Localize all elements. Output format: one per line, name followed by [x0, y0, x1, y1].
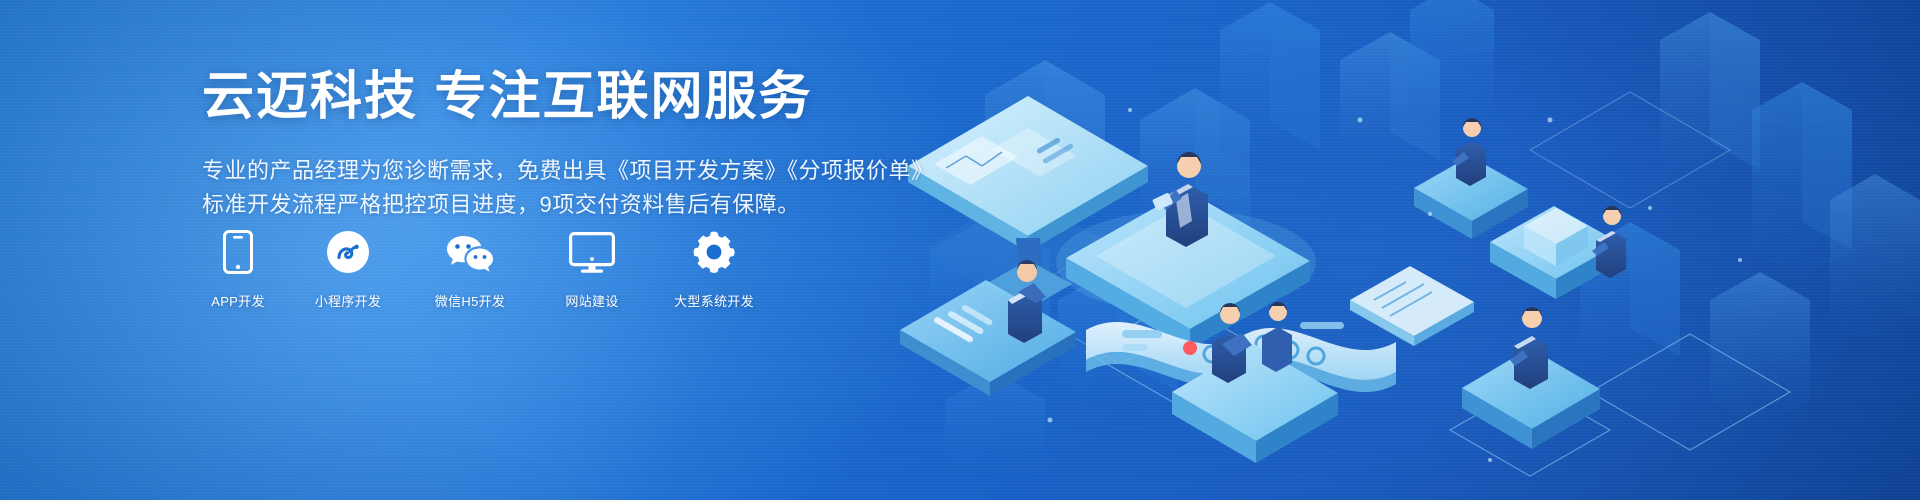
service-item-app[interactable]: APP开发 — [202, 228, 274, 310]
service-label: 网站建设 — [565, 291, 618, 310]
gear-icon — [692, 228, 736, 274]
service-item-large-system[interactable]: 大型系统开发 — [666, 228, 762, 310]
page-title: 云迈科技 专注互联网服务 — [202, 68, 902, 128]
subtitle-line-1: 专业的产品经理为您诊断需求，免费出具《项目开发方案》《分项报价单》 — [202, 154, 902, 188]
service-label: 微信H5开发 — [435, 291, 505, 310]
monitor-icon — [569, 228, 615, 274]
subtitle-line-2: 标准开发流程严格把控项目进度，9项交付资料售后有保障。 — [202, 188, 902, 222]
hero-subtitle: 专业的产品经理为您诊断需求，免费出具《项目开发方案》《分项报价单》 标准开发流程… — [202, 154, 902, 222]
service-item-mini-program[interactable]: 小程序开发 — [312, 228, 384, 310]
mobile-phone-icon — [223, 228, 253, 274]
service-item-website[interactable]: 网站建设 — [556, 228, 628, 310]
service-label: 大型系统开发 — [674, 291, 754, 310]
hero-copy: 云迈科技 专注互联网服务 专业的产品经理为您诊断需求，免费出具《项目开发方案》《… — [202, 68, 902, 222]
service-label: APP开发 — [211, 291, 265, 310]
hero-banner: 云迈科技 专注互联网服务 专业的产品经理为您诊断需求，免费出具《项目开发方案》《… — [0, 0, 1920, 500]
service-list: APP开发 小程序开发 — [202, 228, 762, 310]
mini-program-icon — [326, 228, 370, 274]
isometric-illustration — [890, 0, 1920, 500]
wechat-icon — [444, 228, 496, 274]
service-label: 小程序开发 — [315, 291, 382, 310]
service-item-wechat-h5[interactable]: 微信H5开发 — [422, 228, 518, 310]
